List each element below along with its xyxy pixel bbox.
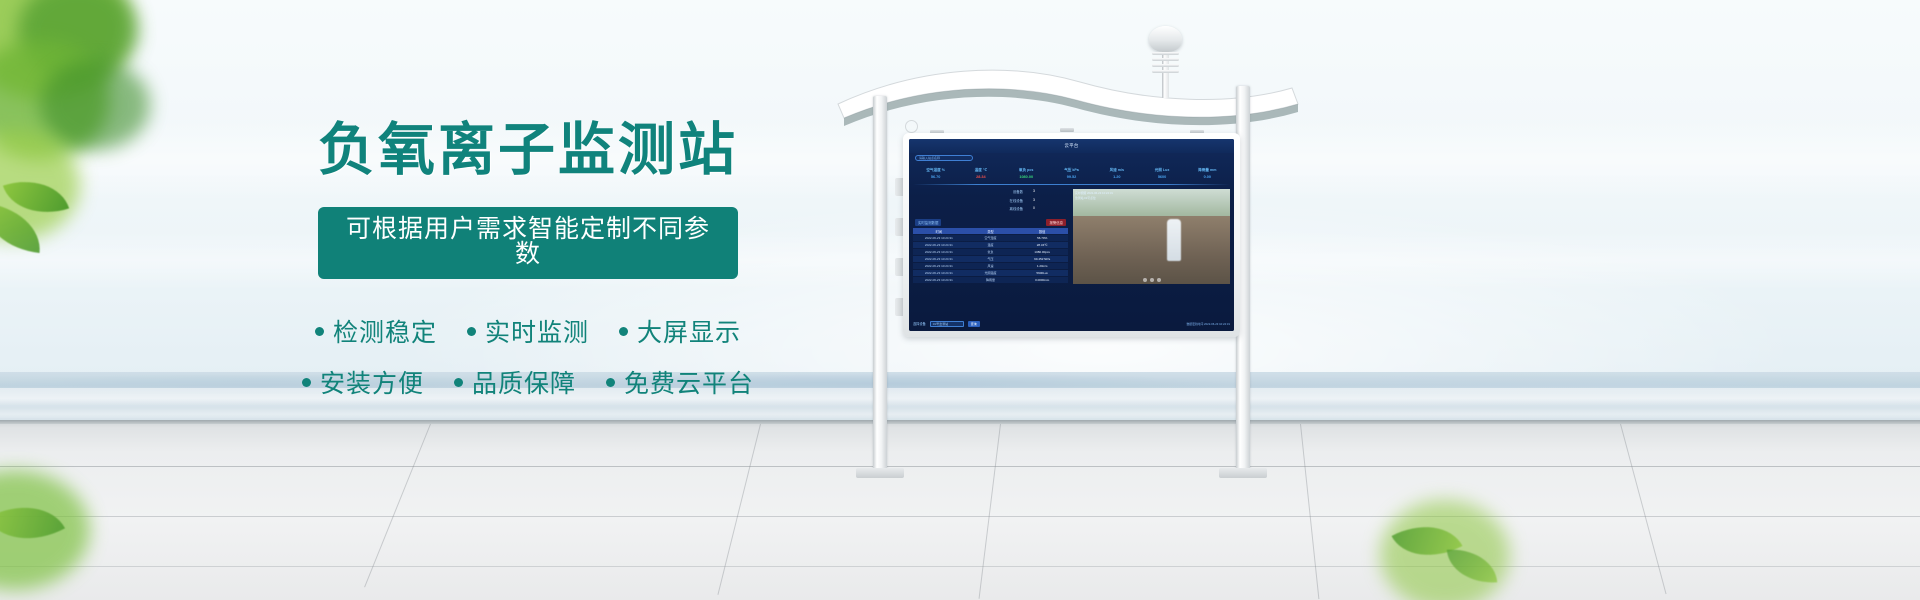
metric-value: 99.52 <box>1067 175 1077 179</box>
sensor-ring <box>1152 70 1179 73</box>
table-row: 2022-06-23 10:24:31 光照强度 5600Lux <box>913 270 1068 276</box>
dashboard-search-input[interactable]: 请输入站点名称 <box>915 155 973 161</box>
feature-label: 免费云平台 <box>624 364 754 400</box>
feature-item: 检测稳定 <box>315 313 437 349</box>
cell-value: 1080.00pcs <box>1016 250 1068 254</box>
metric-label: 风速 m/s <box>1110 168 1124 173</box>
video-osd-timestamp: 实时视频 2022-06-23 10:24:31 <box>1075 191 1113 195</box>
table-row: 2022-06-23 10:24:31 氧负 1080.00pcs <box>913 249 1068 255</box>
live-video-panel[interactable]: 实时视频 2022-06-23 10:24:31 监测站 01号点位 <box>1073 189 1230 284</box>
bullet-dot-icon <box>606 378 615 387</box>
feature-label: 检测稳定 <box>333 313 437 349</box>
sensor-ring <box>1152 58 1179 61</box>
metric-label: 氧负 pcs <box>1019 168 1033 173</box>
metric-card: 气压 kPa 99.52 <box>1049 164 1094 182</box>
sensor-ring <box>1152 52 1179 55</box>
feature-item: 实时监测 <box>467 313 589 349</box>
display-screen[interactable]: 云平台 请输入站点名称 空气湿度 % 56.70 温度 ℃ 28.34 <box>909 139 1234 331</box>
table-row: 2022-06-23 10:24:31 气压 99.4527kPa <box>913 256 1068 262</box>
device-stat-value: 3 <box>1033 198 1041 203</box>
table-row: 2022-06-23 10:24:31 温度 28.34℃ <box>913 242 1068 248</box>
metric-card-row: 空气湿度 % 56.70 温度 ℃ 28.34 氧负 pcs 1080.00 <box>913 164 1230 182</box>
device-stat-row: 设备数 3 <box>931 189 1041 194</box>
metric-card: 温度 ℃ 28.34 <box>958 164 1003 182</box>
station-canopy <box>830 60 1300 130</box>
metric-label: 空气湿度 % <box>926 168 945 173</box>
cell-type: 空气湿度 <box>965 236 1017 240</box>
metric-value: 1.20 <box>1113 175 1120 179</box>
cell-value: 56.70% <box>1016 236 1068 240</box>
display-screen-frame: 云平台 请输入站点名称 空气湿度 % 56.70 温度 ℃ 28.34 <box>903 133 1240 337</box>
dashboard-bottom-bar: 选择设备 01号监测站 查询 数据更新时间 2022-06-23 10:24:3… <box>913 319 1230 328</box>
cell-type: 氧负 <box>965 250 1017 254</box>
update-timestamp: 数据更新时间 2022-06-23 10:24:31 <box>1186 322 1230 326</box>
device-select-value: 01号监测站 <box>933 322 948 326</box>
metric-card: 降雨量 mm 0.00 <box>1185 164 1230 182</box>
bullet-dot-icon <box>302 378 311 387</box>
cell-time: 2022-06-23 10:24:31 <box>913 257 965 261</box>
frame-hook-icon <box>905 120 918 133</box>
metric-card: 风速 m/s 1.20 <box>1094 164 1139 182</box>
video-snapshot-icon[interactable] <box>1150 278 1154 282</box>
device-stat-value: 3 <box>1033 189 1041 194</box>
weather-sensor-icon <box>1149 26 1182 52</box>
cell-type: 温度 <box>965 243 1017 247</box>
data-table: 时间 类型 数值 2022-06-23 10:24:31 空气湿度 56.70%… <box>913 228 1068 283</box>
dashboard: 云平台 请输入站点名称 空气湿度 % 56.70 温度 ℃ 28.34 <box>909 139 1234 331</box>
bullet-dot-icon <box>315 327 324 336</box>
bullet-dot-icon <box>454 378 463 387</box>
cell-value: 99.4527kPa <box>1016 257 1068 261</box>
metric-value: 0.00 <box>1204 175 1211 179</box>
cell-time: 2022-06-23 10:24:31 <box>913 271 965 275</box>
device-stats: 设备数 3 在线设备 3 离线设备 0 <box>931 189 1041 215</box>
bullet-dot-icon <box>619 327 628 336</box>
metric-value: 5600 <box>1158 175 1166 179</box>
feature-item: 免费云平台 <box>606 364 754 400</box>
dashboard-title: 云平台 <box>1064 143 1078 149</box>
bullet-dot-icon <box>467 327 476 336</box>
metric-value: 1080.00 <box>1019 175 1033 179</box>
feature-label: 安装方便 <box>320 364 424 400</box>
cell-value: 1.20m/s <box>1016 264 1068 268</box>
canopy-shape <box>830 60 1300 130</box>
table-row: 2022-06-23 10:24:31 风速 1.20m/s <box>913 263 1068 269</box>
cell-type: 气压 <box>965 257 1017 261</box>
cell-time: 2022-06-23 10:24:31 <box>913 278 965 282</box>
table-row: 2022-06-23 10:24:31 降雨量 0.0000mm <box>913 277 1068 283</box>
cell-time: 2022-06-23 10:24:31 <box>913 236 965 240</box>
search-placeholder-text: 请输入站点名称 <box>919 156 940 160</box>
device-stat-value: 0 <box>1033 206 1041 211</box>
feature-row: 安装方便 品质保障 免费云平台 <box>318 364 738 400</box>
cell-time: 2022-06-23 10:24:31 <box>913 264 965 268</box>
device-stat-label: 设备数 <box>1013 189 1023 194</box>
metric-label: 光照 Lux <box>1155 168 1170 173</box>
feature-item: 品质保障 <box>454 364 576 400</box>
cell-type: 光照强度 <box>965 271 1017 275</box>
metric-value: 28.34 <box>976 175 986 179</box>
feature-label: 品质保障 <box>472 364 576 400</box>
video-ground-region <box>1073 216 1230 284</box>
post-base-right <box>1219 468 1267 478</box>
table-row: 2022-06-23 10:24:31 空气湿度 56.70% <box>913 235 1068 241</box>
metric-label: 降雨量 mm <box>1198 168 1216 173</box>
device-stat-row: 在线设备 3 <box>931 198 1041 203</box>
leaf-blur <box>40 60 150 150</box>
page-title: 负氧离子监测站 <box>318 122 738 179</box>
device-stat-label: 在线设备 <box>1009 198 1023 203</box>
video-play-icon[interactable] <box>1143 278 1147 282</box>
device-stat-row: 离线设备 0 <box>931 206 1041 211</box>
cell-value: 28.34℃ <box>1016 243 1068 247</box>
column-header: 数值 <box>1016 229 1068 234</box>
feature-list: 检测稳定 实时监测 大屏显示 安装方便 品质保障 <box>318 313 738 400</box>
cell-type: 降雨量 <box>965 278 1017 282</box>
video-controls[interactable] <box>1143 278 1161 282</box>
table-title: 实时监测数据 <box>915 219 941 226</box>
metric-label: 气压 kPa <box>1064 168 1079 173</box>
promo-banner: 云平台 请输入站点名称 空气湿度 % 56.70 温度 ℃ 28.34 <box>0 0 1920 600</box>
cell-time: 2022-06-23 10:24:31 <box>913 243 965 247</box>
feature-label: 实时监测 <box>485 313 589 349</box>
column-header: 时间 <box>913 229 965 234</box>
metric-card: 空气湿度 % 56.70 <box>913 164 958 182</box>
promo-copy-block: 负氧离子监测站 可根据用户需求智能定制不同参数 检测稳定 实时监测 大屏显示 <box>318 122 738 415</box>
table-header-bar: 实时监测数据 报警信息 <box>913 219 1068 226</box>
sensor-ring <box>1152 64 1179 67</box>
feature-item: 大屏显示 <box>619 313 741 349</box>
alert-badge[interactable]: 报警信息 <box>1046 219 1066 226</box>
subtitle-container: 可根据用户需求智能定制不同参数 <box>318 207 738 279</box>
post-base-left <box>856 468 904 478</box>
subtitle-badge: 可根据用户需求智能定制不同参数 <box>318 207 738 279</box>
column-header: 类型 <box>965 229 1017 234</box>
frame-nub <box>1060 128 1074 132</box>
table-column-headers: 时间 类型 数值 <box>913 228 1068 234</box>
video-fullscreen-icon[interactable] <box>1157 278 1161 282</box>
metric-value: 56.70 <box>931 175 941 179</box>
feature-item: 安装方便 <box>302 364 424 400</box>
metric-card: 氧负 pcs 1080.00 <box>1004 164 1049 182</box>
video-osd-site: 监测站 01号点位 <box>1075 196 1096 200</box>
cell-type: 风速 <box>965 264 1017 268</box>
dashboard-header: 云平台 <box>909 139 1234 153</box>
cell-value: 0.0000mm <box>1016 278 1068 282</box>
metric-label: 温度 ℃ <box>975 168 988 173</box>
dashboard-divider <box>913 184 1230 185</box>
feature-row: 检测稳定 实时监测 大屏显示 <box>318 313 738 349</box>
cell-value: 5600Lux <box>1016 271 1068 275</box>
device-select-label: 选择设备 <box>913 321 926 326</box>
feature-label: 大屏显示 <box>637 313 741 349</box>
query-button[interactable]: 查询 <box>968 321 980 327</box>
station-post-left <box>873 96 887 474</box>
video-person-figure <box>1167 219 1181 261</box>
device-stat-label: 离线设备 <box>1009 206 1023 211</box>
metric-card: 光照 Lux 5600 <box>1139 164 1184 182</box>
cell-time: 2022-06-23 10:24:31 <box>913 250 965 254</box>
device-select-dropdown[interactable]: 01号监测站 <box>930 321 964 327</box>
monitoring-station: 云平台 请输入站点名称 空气湿度 % 56.70 温度 ℃ 28.34 <box>0 0 1920 600</box>
